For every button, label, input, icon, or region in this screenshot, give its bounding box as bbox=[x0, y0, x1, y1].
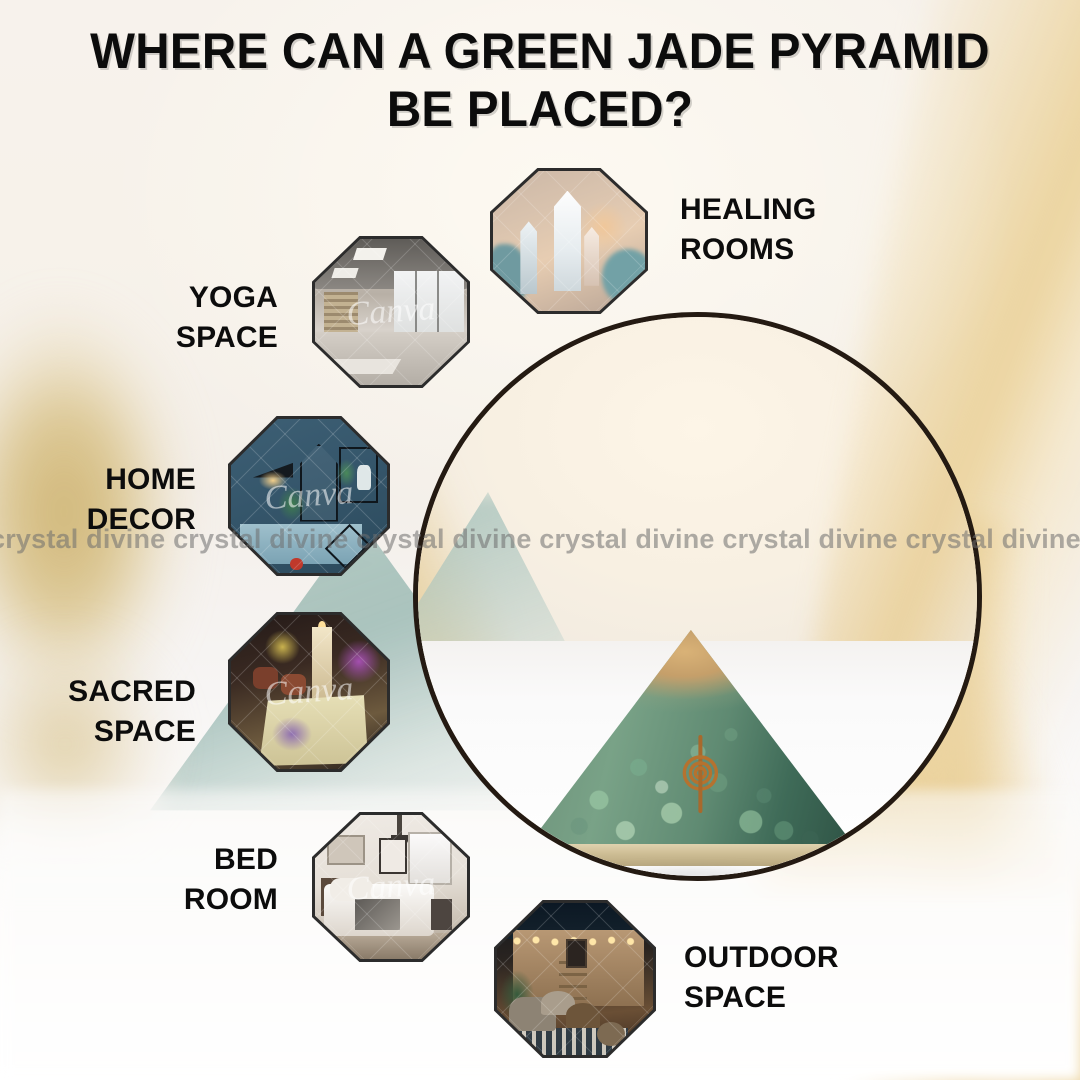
label-yoga-space: YOGA SPACE bbox=[60, 278, 278, 358]
hero-product-circle bbox=[413, 312, 982, 881]
thumbnail-healing-rooms-image bbox=[493, 171, 645, 311]
copper-spiral-icon bbox=[665, 735, 737, 813]
label-home-decor: HOME DECOR bbox=[0, 460, 196, 540]
title-line-2: BE PLACED? bbox=[65, 80, 1015, 138]
jade-pyramid bbox=[526, 630, 856, 880]
thumbnail-bed-room-image: Canva bbox=[315, 815, 467, 959]
thumbnail-sacred-space-image: Canva bbox=[231, 615, 387, 769]
infographic-poster: WHERE CAN A GREEN JADE PYRAMID BE PLACED… bbox=[0, 0, 1080, 1080]
thumbnail-healing-rooms[interactable] bbox=[490, 168, 648, 314]
thumbnail-bed-room[interactable]: Canva bbox=[312, 812, 470, 962]
title-line-1: WHERE CAN A GREEN JADE PYRAMID bbox=[65, 22, 1015, 80]
hero-product-photo bbox=[418, 317, 977, 876]
label-bed-room: BED ROOM bbox=[60, 840, 278, 920]
page-title: WHERE CAN A GREEN JADE PYRAMID BE PLACED… bbox=[27, 22, 1053, 138]
thumbnail-yoga-space-image: Canva bbox=[315, 239, 467, 385]
thumbnail-yoga-space[interactable]: Canva bbox=[312, 236, 470, 388]
label-outdoor-space: OUTDOOR SPACE bbox=[684, 938, 964, 1018]
label-healing-rooms: HEALING ROOMS bbox=[680, 190, 940, 270]
thumbnail-outdoor-space-image bbox=[497, 903, 653, 1055]
label-sacred-space: SACRED SPACE bbox=[0, 672, 196, 752]
thumbnail-home-decor-image: Canva bbox=[231, 419, 387, 573]
